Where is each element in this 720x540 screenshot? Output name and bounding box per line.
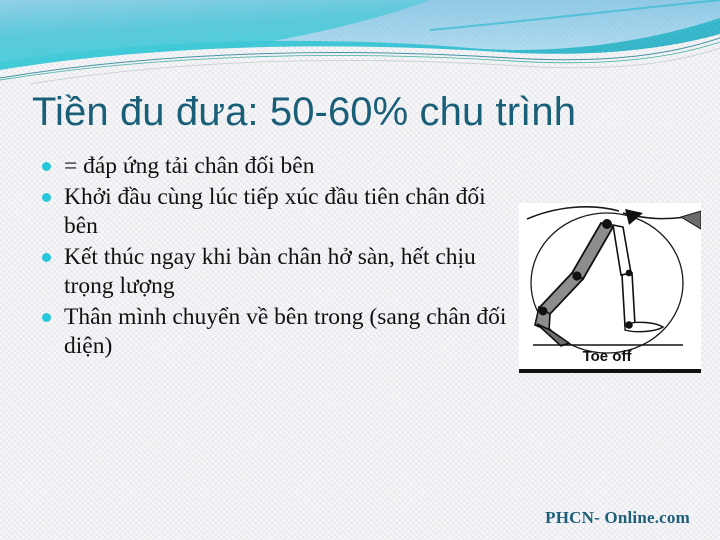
bullet-list: = đáp ứng tải chân đối bên Khởi đầu cùng… [38,152,518,363]
bullet-text: Khởi đầu cùng lúc tiếp xúc đầu tiên chân… [64,184,486,239]
slide-title: Tiền đu đưa: 50-60% chu trình [32,88,692,136]
bullet-text: Thân mình chuyển về bên trong (sang chân… [64,304,506,359]
list-item: Thân mình chuyển về bên trong (sang chân… [38,303,518,361]
list-item: = đáp ứng tải chân đối bên [38,152,518,181]
bullet-dot-icon [42,253,51,262]
figure-caption: Toe off [583,348,633,365]
list-item: Kết thúc ngay khi bàn chân hở sàn, hết c… [38,243,518,301]
footer-watermark: PHCN- Online.com [0,508,690,528]
bullet-dot-icon [42,193,51,202]
list-item: Khởi đầu cùng lúc tiếp xúc đầu tiên chân… [38,183,518,241]
bullet-text: = đáp ứng tải chân đối bên [64,153,314,179]
presentation-slide: Tiền đu đưa: 50-60% chu trình = đáp ứng … [0,0,720,540]
gait-toe-off-diagram: Toe off [519,203,701,369]
bullet-dot-icon [42,162,51,171]
header-wave-decoration [0,0,720,84]
bullet-dot-icon [42,313,51,322]
gait-diagram-svg: Toe off [519,203,701,369]
bullet-text: Kết thúc ngay khi bàn chân hở sàn, hết c… [64,244,476,299]
ground-line [519,369,701,373]
